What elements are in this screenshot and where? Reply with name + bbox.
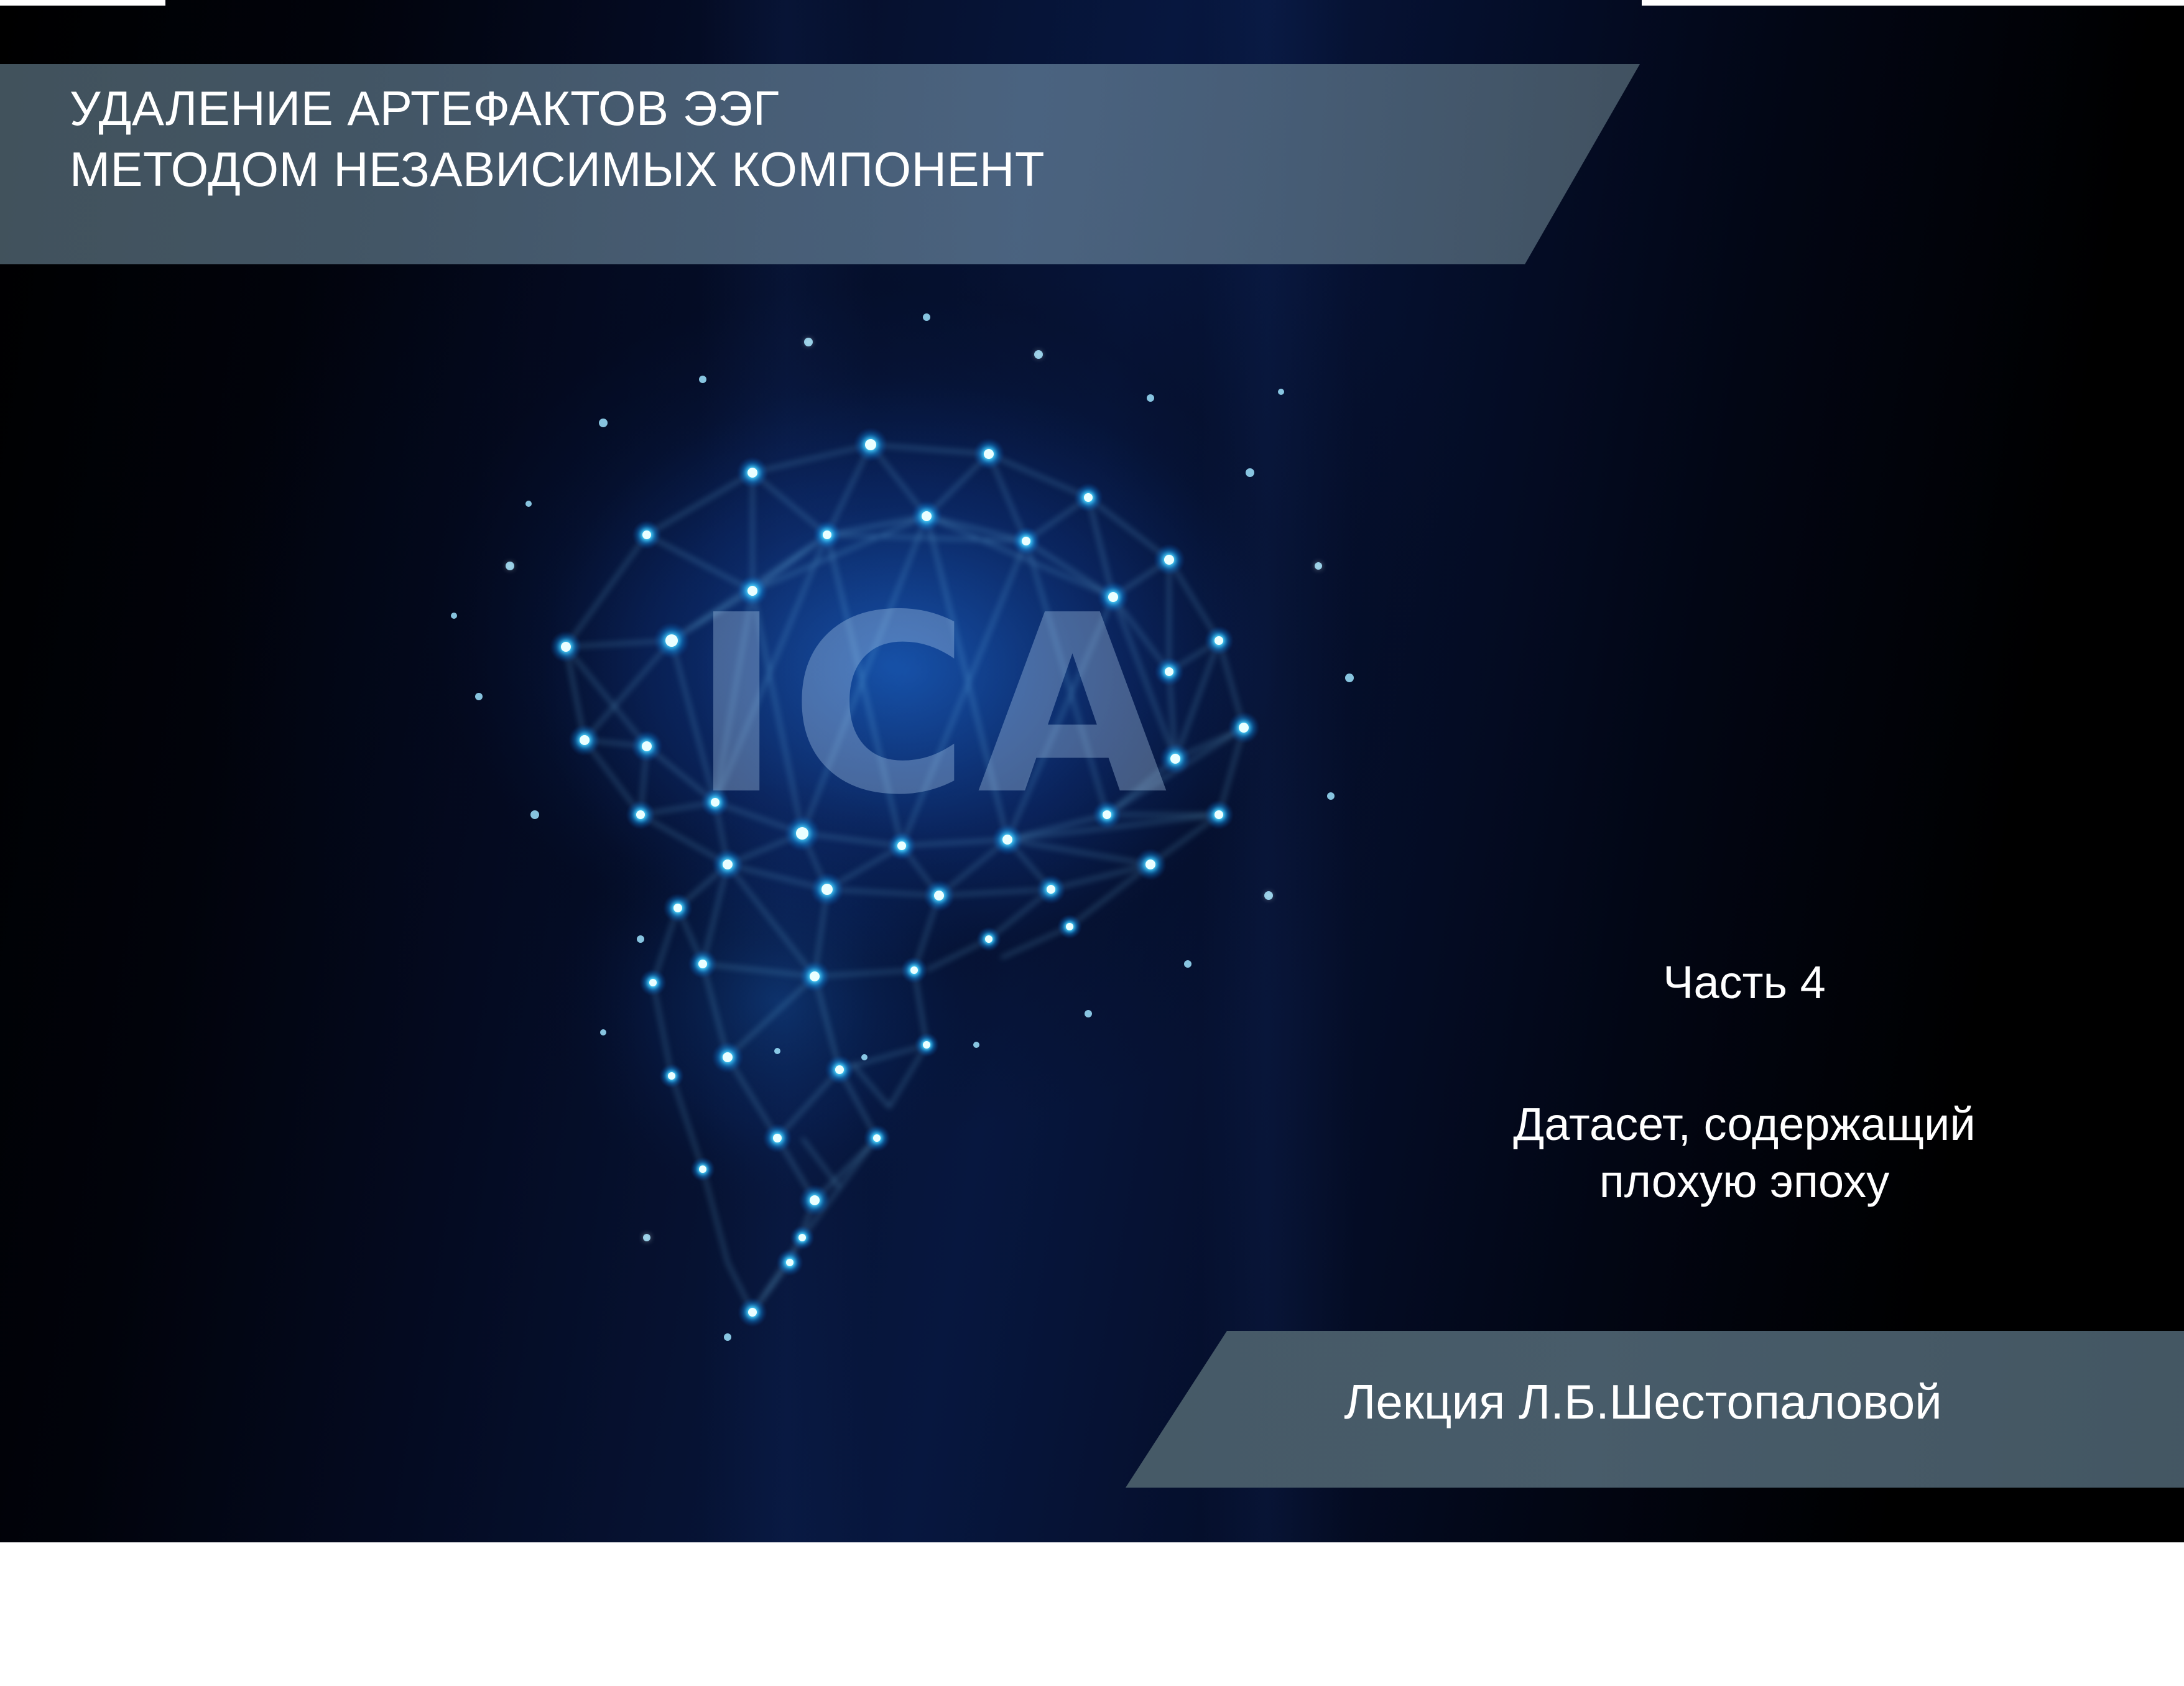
part-label: Часть 4: [1343, 956, 2145, 1009]
title-banner: УДАЛЕНИЕ АРТЕФАКТОВ ЭЭГ МЕТОДОМ НЕЗАВИСИ…: [0, 64, 1648, 264]
presentation-slide: ICA УДАЛЕНИЕ АРТЕФАКТОВ ЭЭГ МЕТОДОМ НЕЗА…: [0, 0, 2184, 1542]
lecturer-banner: Лекция Л.Б.Шестопаловой: [1113, 1331, 2184, 1488]
top-strip-right: [1642, 0, 2184, 6]
top-strip-left: [0, 0, 165, 6]
lecturer-name: Лекция Л.Б.Шестопаловой: [1113, 1373, 2184, 1430]
page-below-slide: [0, 1542, 2184, 1686]
slide-subtitle: Датасет, содержащий плохую эпоху: [1343, 1096, 2145, 1210]
page-title: УДАЛЕНИЕ АРТЕФАКТОВ ЭЭГ МЕТОДОМ НЕЗАВИСИ…: [70, 78, 1045, 200]
